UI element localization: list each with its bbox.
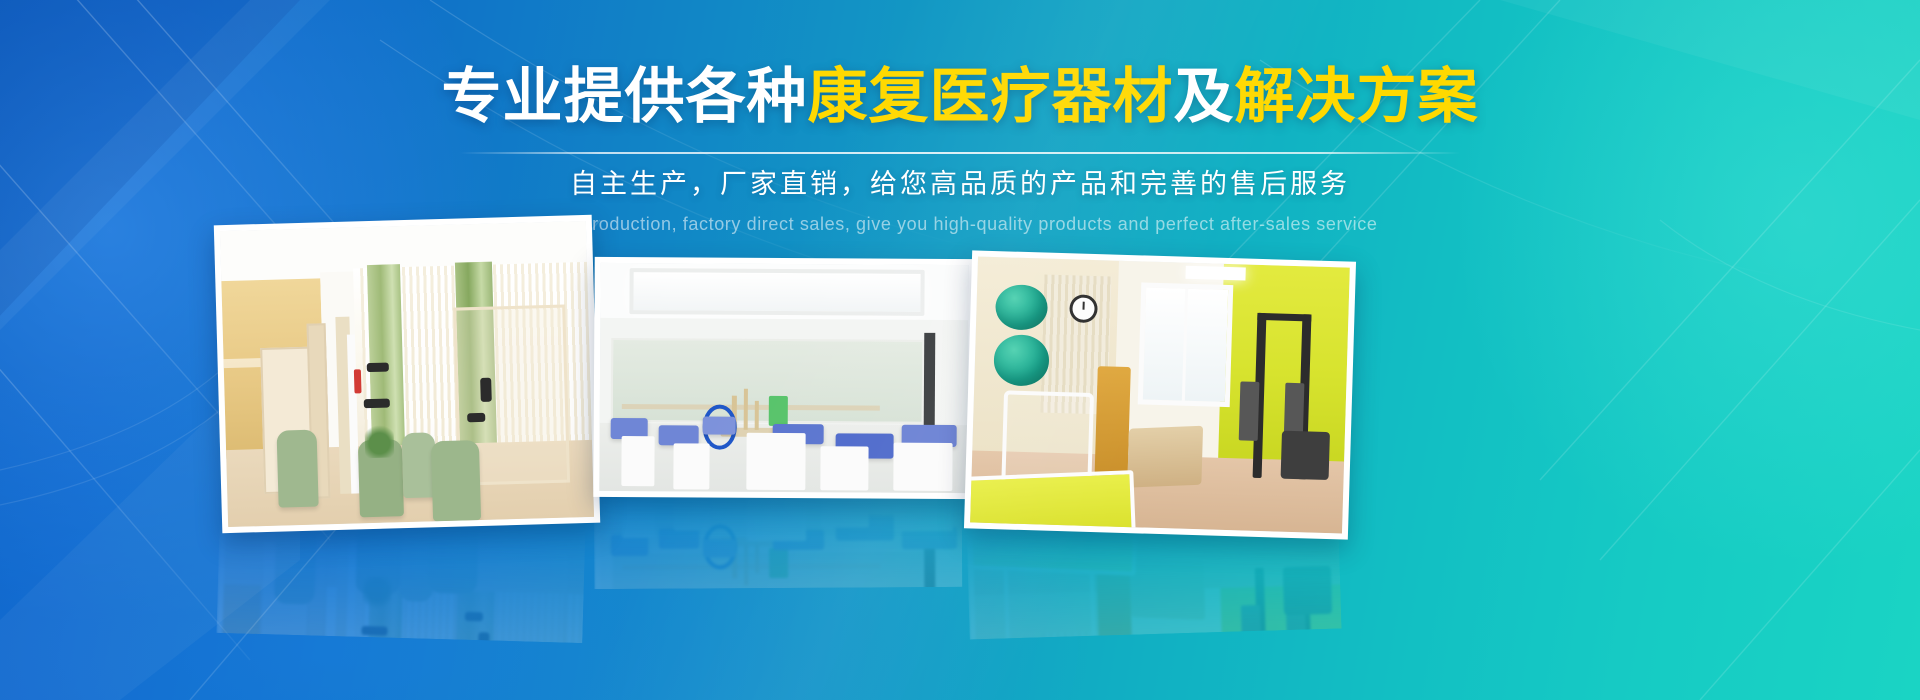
white-equipment-frame-3: [747, 432, 806, 489]
window: [1137, 283, 1232, 407]
photo-collage: [0, 0, 1920, 700]
ceiling-light: [1186, 265, 1246, 280]
white-equipment-frame-4: [820, 447, 868, 491]
handle-4: [467, 413, 486, 422]
photo-3-image: [970, 257, 1350, 534]
photo-reflection-1: [216, 513, 585, 643]
collage-photo-2[interactable]: [593, 257, 974, 499]
wooden-rod-3: [754, 401, 759, 431]
white-equipment-frame-1: [621, 436, 654, 486]
handle-2: [364, 398, 390, 408]
green-board: [769, 396, 788, 426]
white-equipment-frame-5: [894, 443, 953, 491]
potted-plant: [364, 422, 394, 458]
promo-banner: 专业提供各种康复医疗器材及解决方案 自主生产，厂家直销，给您高品质的产品和完善的…: [0, 0, 1920, 700]
wooden-rod-2: [743, 389, 748, 430]
green-chair-4: [431, 440, 481, 521]
collage-photo-1[interactable]: [214, 215, 600, 533]
wooden-tilt-panel: [1094, 367, 1131, 485]
green-exercise-ball-1: [994, 284, 1047, 331]
white-equipment-frame-2: [673, 443, 710, 489]
treatment-bench: [1127, 426, 1203, 487]
weight-stack-1: [1239, 381, 1259, 440]
blue-therapy-bed-3: [703, 416, 736, 434]
dark-pillar: [924, 333, 936, 429]
green-chair-1: [277, 430, 319, 508]
photo-reflection-2: [594, 487, 963, 589]
handle-3: [480, 378, 492, 402]
collage-photo-3[interactable]: [964, 250, 1356, 539]
red-lever: [354, 369, 362, 393]
photo-2-image: [599, 263, 968, 493]
wall-mirror: [611, 338, 925, 424]
yellow-treatment-table: [970, 471, 1136, 534]
photo-1-image: [220, 221, 594, 527]
skylight-panel: [630, 268, 925, 317]
handle-1: [366, 363, 388, 372]
machine-seat: [1280, 431, 1330, 480]
